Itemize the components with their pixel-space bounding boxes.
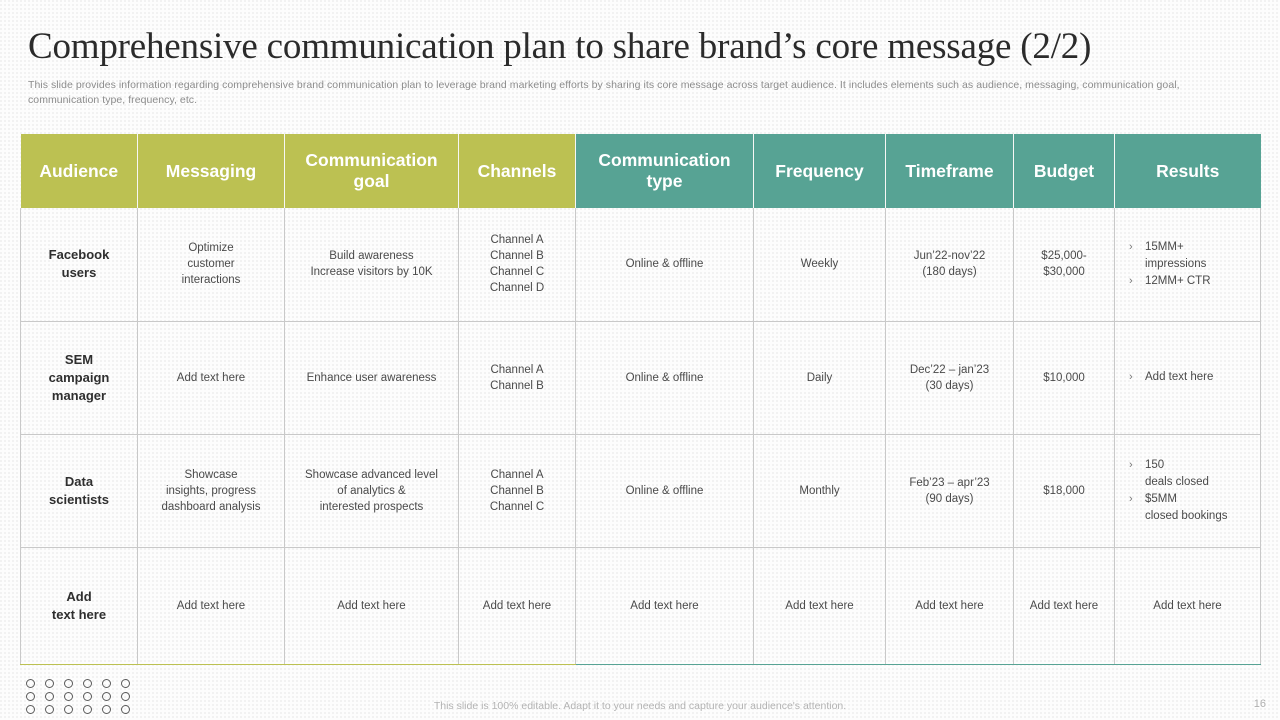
cell-line: Add text here (291, 598, 452, 614)
cell-line: $18,000 (1020, 483, 1108, 499)
communication-goal-cell[interactable]: Enhance user awareness (285, 321, 459, 434)
page-title: Comprehensive communication plan to shar… (28, 25, 1243, 69)
cell-line: Channel D (465, 280, 569, 296)
chevron-right-icon: › (1129, 239, 1133, 256)
cell-line: campaign (27, 369, 131, 387)
table-column-header[interactable]: Communication goal (285, 134, 459, 208)
circle-outline-icon (83, 679, 92, 688)
results-list-item: ›$5MMclosed bookings (1127, 491, 1254, 525)
footer-editable-note: This slide is 100% editable. Adapt it to… (0, 700, 1280, 712)
messaging-cell[interactable]: Add text here (138, 547, 285, 664)
cell-line: Channel C (465, 264, 569, 280)
cell-line: Enhance user awareness (291, 370, 452, 386)
cell-line: $25,000- (1020, 248, 1108, 264)
channels-cell[interactable]: Add text here (459, 547, 576, 664)
table-row[interactable]: DatascientistsShowcaseinsights, progress… (21, 434, 1261, 547)
communication-goal-cell[interactable]: Add text here (285, 547, 459, 664)
messaging-cell[interactable]: Showcaseinsights, progressdashboard anal… (138, 434, 285, 547)
page-number: 16 (1254, 698, 1266, 710)
cell-line: Online & offline (582, 256, 747, 272)
cell-line: Optimize (144, 240, 278, 256)
table-row[interactable]: FacebookusersOptimizecustomerinteraction… (21, 208, 1261, 321)
cell-line: Weekly (760, 256, 879, 272)
results-cell[interactable]: ›15MM+impressions›12MM+ CTR (1115, 208, 1261, 321)
cell-line: customer (144, 256, 278, 272)
communication-plan-table-wrapper: AudienceMessagingCommunication goalChann… (20, 134, 1260, 665)
communication-type-cell[interactable]: Add text here (576, 547, 754, 664)
cell-line: Channel B (465, 378, 569, 394)
cell-line: text here (27, 606, 131, 624)
cell-line: Monthly (760, 483, 879, 499)
results-line: $5MM (1145, 491, 1254, 508)
table-column-header[interactable]: Budget (1014, 134, 1115, 208)
circle-outline-icon (45, 679, 54, 688)
results-cell[interactable]: Add text here (1115, 547, 1261, 664)
table-column-header[interactable]: Frequency (754, 134, 886, 208)
cell-line: interested prospects (291, 499, 452, 515)
cell-line: of analytics & (291, 483, 452, 499)
cell-line: SEM (27, 351, 131, 369)
chevron-right-icon: › (1129, 457, 1133, 474)
cell-line: manager (27, 387, 131, 405)
frequency-cell[interactable]: Daily (754, 321, 886, 434)
cell-line: Showcase (144, 467, 278, 483)
results-line: 150 (1145, 457, 1254, 474)
decorative-dot-grid-icon (26, 679, 140, 718)
results-list-item: ›Add text here (1127, 369, 1254, 386)
cell-line: Data (27, 473, 131, 491)
results-list: ›150deals closed›$5MMclosed bookings (1121, 457, 1254, 525)
circle-outline-icon (64, 679, 73, 688)
budget-cell[interactable]: $25,000-$30,000 (1014, 208, 1115, 321)
circle-outline-icon (121, 679, 130, 688)
communication-goal-cell[interactable]: Build awarenessIncrease visitors by 10K (285, 208, 459, 321)
table-row[interactable]: SEMcampaignmanagerAdd text hereEnhance u… (21, 321, 1261, 434)
results-list: ›Add text here (1121, 369, 1254, 386)
cell-line: Channel B (465, 483, 569, 499)
cell-line: Channel C (465, 499, 569, 515)
cell-line: Channel A (465, 467, 569, 483)
timeframe-cell[interactable]: Dec’22 – jan’23(30 days) (886, 321, 1014, 434)
cell-line: Feb’23 – apr’23 (892, 475, 1007, 491)
communication-plan-table: AudienceMessagingCommunication goalChann… (20, 134, 1261, 665)
cell-line: Channel A (465, 362, 569, 378)
results-cell[interactable]: ›150deals closed›$5MMclosed bookings (1115, 434, 1261, 547)
cell-line: Daily (760, 370, 879, 386)
results-line: 15MM+ (1145, 239, 1254, 256)
table-row[interactable]: Addtext hereAdd text hereAdd text hereAd… (21, 547, 1261, 664)
cell-line: (30 days) (892, 378, 1007, 394)
frequency-cell[interactable]: Add text here (754, 547, 886, 664)
cell-line: Add text here (144, 598, 278, 614)
circle-outline-icon (26, 679, 35, 688)
results-line: impressions (1145, 256, 1254, 273)
budget-cell[interactable]: Add text here (1014, 547, 1115, 664)
cell-line: dashboard analysis (144, 499, 278, 515)
slide-canvas: Comprehensive communication plan to shar… (0, 0, 1280, 720)
cell-line: Add text here (1121, 598, 1254, 614)
results-cell[interactable]: ›Add text here (1115, 321, 1261, 434)
table-column-header[interactable]: Audience (21, 134, 138, 208)
results-list-item: ›150deals closed (1127, 457, 1254, 491)
cell-line: (90 days) (892, 491, 1007, 507)
audience-cell[interactable]: SEMcampaignmanager (21, 321, 138, 434)
messaging-cell[interactable]: Optimizecustomerinteractions (138, 208, 285, 321)
cell-line: Add text here (465, 598, 569, 614)
results-list-item: ›12MM+ CTR (1127, 273, 1254, 290)
cell-line: Channel A (465, 232, 569, 248)
table-column-header[interactable]: Channels (459, 134, 576, 208)
channels-cell[interactable]: Channel AChannel BChannel CChannel D (459, 208, 576, 321)
cell-line: users (27, 264, 131, 282)
cell-line: Add text here (1020, 598, 1108, 614)
results-list: ›15MM+impressions›12MM+ CTR (1121, 239, 1254, 290)
circle-outline-icon (102, 679, 111, 688)
frequency-cell[interactable]: Monthly (754, 434, 886, 547)
cell-line: $10,000 (1020, 370, 1108, 386)
results-line: Add text here (1145, 369, 1254, 386)
chevron-right-icon: › (1129, 369, 1133, 386)
table-column-header[interactable]: Results (1115, 134, 1261, 208)
audience-cell[interactable]: Datascientists (21, 434, 138, 547)
table-header-row: AudienceMessagingCommunication goalChann… (21, 134, 1261, 208)
cell-line: Facebook (27, 246, 131, 264)
channels-cell[interactable]: Channel AChannel BChannel C (459, 434, 576, 547)
cell-line: Channel B (465, 248, 569, 264)
communication-type-cell[interactable]: Online & offline (576, 434, 754, 547)
cell-line: interactions (144, 272, 278, 288)
cell-line: Add text here (892, 598, 1007, 614)
table-header: AudienceMessagingCommunication goalChann… (21, 134, 1261, 208)
cell-line: (180 days) (892, 264, 1007, 280)
cell-line: insights, progress (144, 483, 278, 499)
page-subtitle: This slide provides information regardin… (28, 78, 1224, 107)
results-line: 12MM+ CTR (1145, 273, 1254, 290)
cell-line: Dec’22 – jan’23 (892, 362, 1007, 378)
communication-type-cell[interactable]: Online & offline (576, 208, 754, 321)
table-column-header[interactable]: Timeframe (886, 134, 1014, 208)
audience-cell[interactable]: Facebookusers (21, 208, 138, 321)
audience-cell[interactable]: Addtext here (21, 547, 138, 664)
chevron-right-icon: › (1129, 273, 1133, 290)
cell-line: Add (27, 588, 131, 606)
table-body: FacebookusersOptimizecustomerinteraction… (21, 208, 1261, 664)
results-line: closed bookings (1145, 508, 1254, 525)
communication-type-cell[interactable]: Online & offline (576, 321, 754, 434)
messaging-cell[interactable]: Add text here (138, 321, 285, 434)
results-list-item: ›15MM+impressions (1127, 239, 1254, 273)
cell-line: scientists (27, 491, 131, 509)
cell-line: Add text here (760, 598, 879, 614)
budget-cell[interactable]: $18,000 (1014, 434, 1115, 547)
table-column-header[interactable]: Messaging (138, 134, 285, 208)
timeframe-cell[interactable]: Feb’23 – apr’23(90 days) (886, 434, 1014, 547)
results-line: deals closed (1145, 474, 1254, 491)
chevron-right-icon: › (1129, 491, 1133, 508)
cell-line: Add text here (144, 370, 278, 386)
cell-line: Online & offline (582, 370, 747, 386)
budget-cell[interactable]: $10,000 (1014, 321, 1115, 434)
cell-line: Jun’22-nov’22 (892, 248, 1007, 264)
frequency-cell[interactable]: Weekly (754, 208, 886, 321)
cell-line: Online & offline (582, 483, 747, 499)
cell-line: Showcase advanced level (291, 467, 452, 483)
communication-goal-cell[interactable]: Showcase advanced levelof analytics &int… (285, 434, 459, 547)
cell-line: $30,000 (1020, 264, 1108, 280)
timeframe-cell[interactable]: Add text here (886, 547, 1014, 664)
timeframe-cell[interactable]: Jun’22-nov’22(180 days) (886, 208, 1014, 321)
table-column-header[interactable]: Communication type (576, 134, 754, 208)
cell-line: Increase visitors by 10K (291, 264, 452, 280)
cell-line: Build awareness (291, 248, 452, 264)
channels-cell[interactable]: Channel AChannel B (459, 321, 576, 434)
cell-line: Add text here (582, 598, 747, 614)
